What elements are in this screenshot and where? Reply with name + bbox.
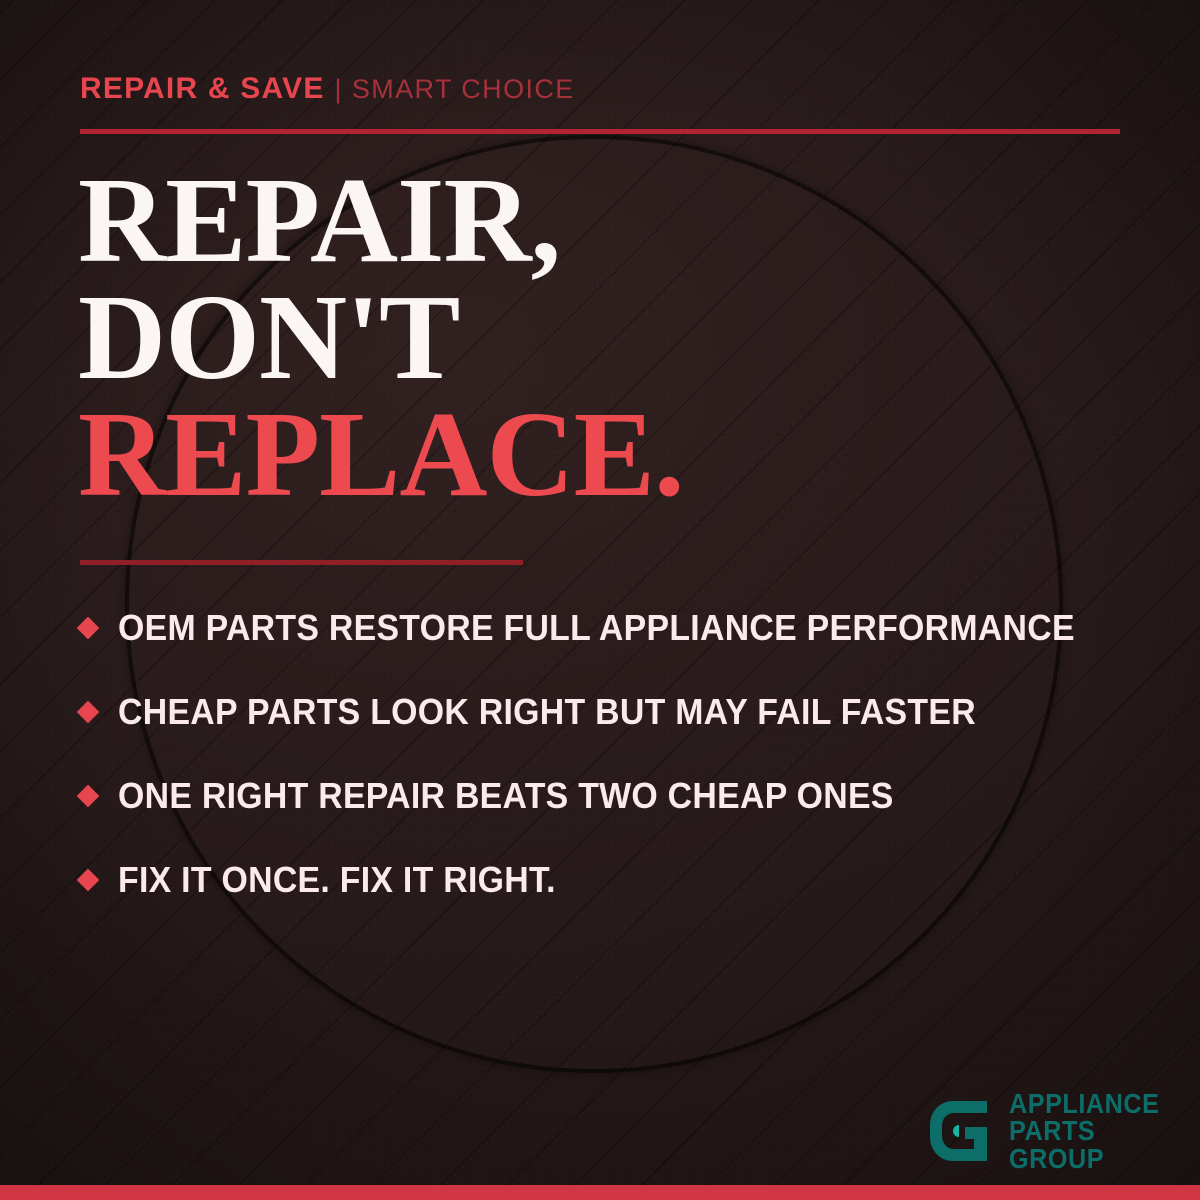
benefits-list: OEM PARTS RESTORE FULL APPLIANCE PERFORM… bbox=[80, 586, 1160, 922]
poster-canvas: REPAIR & SAVE| SMART CHOICE REPAIR, DON'… bbox=[0, 0, 1200, 1200]
brand-word-line-1: APPLIANCE bbox=[1009, 1090, 1159, 1117]
headline-line-2: DON'T bbox=[78, 279, 683, 396]
brand-wordmark: APPLIANCE PARTS GROUP bbox=[1009, 1090, 1159, 1172]
diamond-bullet-icon bbox=[77, 869, 100, 892]
eyebrow-main-label: REPAIR & SAVE bbox=[80, 72, 325, 105]
list-item: OEM PARTS RESTORE FULL APPLIANCE PERFORM… bbox=[80, 586, 1160, 670]
brand-word-line-2: PARTS bbox=[1009, 1117, 1159, 1144]
diamond-bullet-icon bbox=[77, 617, 100, 640]
list-item-label: ONE RIGHT REPAIR BEATS TWO CHEAP ONES bbox=[118, 775, 894, 817]
list-item: FIX IT ONCE. FIX IT RIGHT. bbox=[80, 838, 1160, 922]
headline-line-3: REPLACE. bbox=[78, 396, 683, 513]
eyebrow-kicker: REPAIR & SAVE| SMART CHOICE bbox=[80, 74, 575, 104]
g-monogram-icon bbox=[923, 1095, 995, 1167]
brand-word-line-3: GROUP bbox=[1009, 1145, 1159, 1172]
brand-logo: APPLIANCE PARTS GROUP bbox=[923, 1090, 1176, 1172]
headline-block: REPAIR, DON'T REPLACE. bbox=[78, 162, 683, 513]
diamond-bullet-icon bbox=[77, 701, 100, 724]
list-item: CHEAP PARTS LOOK RIGHT BUT MAY FAIL FAST… bbox=[80, 670, 1160, 754]
headline-divider-rule bbox=[80, 560, 523, 565]
list-item-label: OEM PARTS RESTORE FULL APPLIANCE PERFORM… bbox=[118, 607, 1075, 649]
diamond-bullet-icon bbox=[77, 785, 100, 808]
g-monogram-dot bbox=[953, 1125, 959, 1137]
list-item-label: FIX IT ONCE. FIX IT RIGHT. bbox=[118, 859, 556, 901]
list-item-label: CHEAP PARTS LOOK RIGHT BUT MAY FAIL FAST… bbox=[118, 691, 976, 733]
bottom-accent-bar bbox=[0, 1185, 1200, 1200]
poster-content: REPAIR & SAVE| SMART CHOICE REPAIR, DON'… bbox=[0, 0, 1200, 1200]
eyebrow-sub-label: | SMART CHOICE bbox=[335, 74, 575, 104]
header-divider-rule bbox=[80, 129, 1120, 134]
list-item: ONE RIGHT REPAIR BEATS TWO CHEAP ONES bbox=[80, 754, 1160, 838]
headline-line-1: REPAIR, bbox=[78, 162, 683, 279]
